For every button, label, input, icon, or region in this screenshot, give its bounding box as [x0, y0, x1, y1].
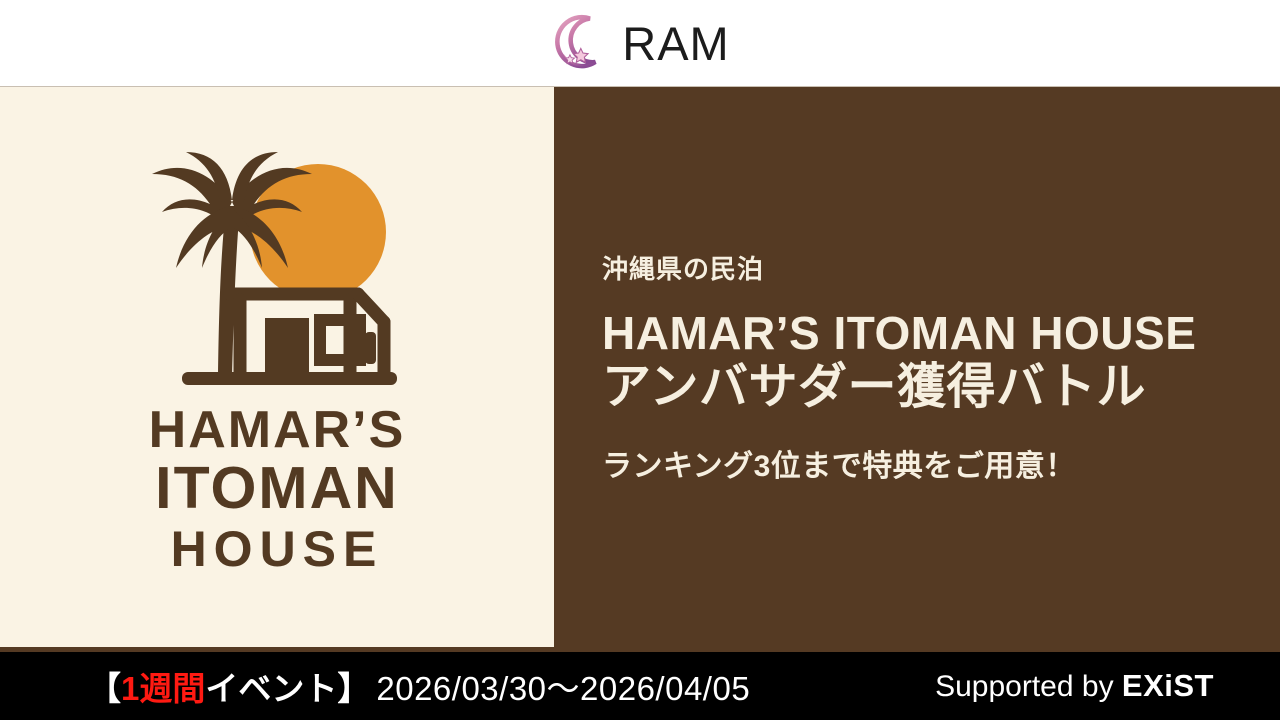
event-period: 【1週間イベント】 2026/03/30～2026/04/05 [88, 662, 750, 710]
title-japanese: アンバサダー獲得バトル [602, 360, 1280, 415]
property-logo: HAMAR’S ITOMAN HOUSE [122, 152, 432, 574]
main-split: HAMAR’S ITOMAN HOUSE 沖縄県の民泊 HAMAR’S ITOM… [0, 87, 1280, 647]
event-date-range: 2026/03/30～2026/04/05 [376, 662, 750, 710]
bracket-open: 【 [88, 662, 121, 710]
eyebrow-label: 沖縄県の民泊 [602, 249, 1280, 286]
property-logo-panel: HAMAR’S ITOMAN HOUSE [0, 87, 554, 647]
event-duration: 1週間 [121, 662, 205, 710]
crescent-moon-with-stars-icon [550, 14, 608, 72]
bracket-close: 】 [337, 662, 370, 710]
brand-name: RAM [622, 20, 729, 67]
property-wordmark: HAMAR’S ITOMAN HOUSE [149, 404, 406, 574]
sponsor-brand: EXiST [1122, 668, 1214, 703]
campaign-copy-panel: 沖縄県の民泊 HAMAR’S ITOMAN HOUSE アンバサダー獲得バトル … [554, 87, 1280, 647]
wordmark-line-1: HAMAR’S [149, 404, 406, 456]
supported-by-label: Supported by [935, 670, 1122, 703]
subtitle-text: ランキング3位まで特典をご用意！ [602, 441, 1280, 485]
event-word: イベント [205, 662, 337, 710]
sponsor-credit: Supported by EXiST [935, 668, 1214, 704]
promo-banner: RAM [0, 0, 1280, 720]
site-header: RAM [0, 0, 1280, 87]
wordmark-line-3: HOUSE [149, 524, 406, 574]
brand-lockup[interactable]: RAM [550, 14, 729, 72]
title-english: HAMAR’S ITOMAN HOUSE [602, 308, 1280, 360]
wordmark-line-2: ITOMAN [149, 459, 406, 518]
palm-tree-sun-house-icon [122, 152, 432, 400]
event-footer: 【1週間イベント】 2026/03/30～2026/04/05 Supporte… [0, 652, 1280, 720]
